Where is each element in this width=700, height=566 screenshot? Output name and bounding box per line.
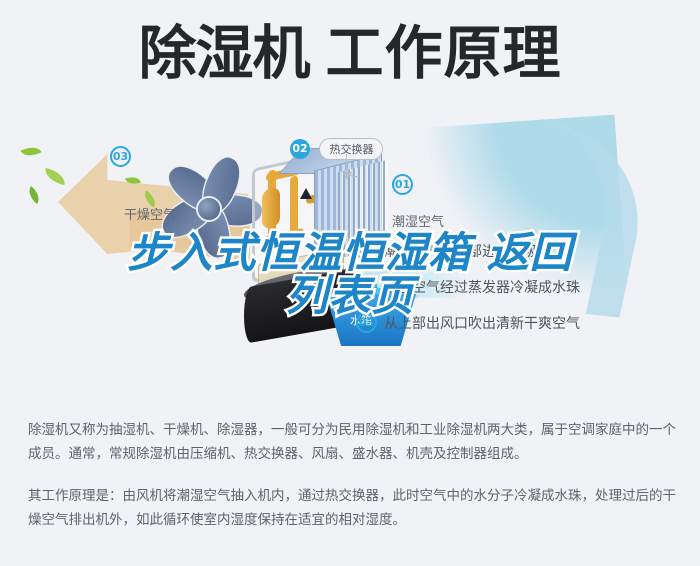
- leaf-icon: [25, 186, 44, 204]
- dehumidifier-diagram: 水箱 02 热交换器 01 潮湿空气 03 干燥空气 01 潮湿空气从下部进风口…: [0, 118, 700, 398]
- legend-number-badge: 01: [356, 240, 377, 261]
- legend-text: 潮湿空气从下部进风口吸入: [384, 241, 552, 261]
- legend-row: 01 潮湿空气从下部进风口吸入: [356, 240, 686, 261]
- article-body: 除湿机又称为抽湿机、干燥机、除湿器，一般可分为民用除湿机和工业除湿机两大类，属于…: [28, 418, 678, 550]
- legend-number-badge: 03: [356, 312, 377, 333]
- page-title-wrap: 除湿机工作原理: [0, 24, 700, 82]
- diagram-legend: 01 潮湿空气从下部进风口吸入 02 潮湿空气经过蒸发器冷凝成水珠 03 从上部…: [356, 240, 686, 348]
- legend-text: 从上部出风口吹出清新干爽空气: [384, 313, 580, 333]
- callout-heat-exchanger: 02 热交换器: [290, 138, 383, 160]
- label-number-badge: 03: [110, 146, 131, 167]
- leaf-icon: [20, 142, 41, 160]
- legend-number-badge: 02: [356, 276, 377, 297]
- label-dry-air: 03 干燥空气: [110, 146, 131, 167]
- leaf-icon: [43, 168, 67, 185]
- legend-text: 潮湿空气经过蒸发器冷凝成水珠: [384, 277, 580, 297]
- callout-leader-tip-icon: [342, 172, 352, 180]
- label-caption: 潮湿空气: [392, 211, 444, 230]
- receiver-cylinder: [262, 186, 280, 230]
- flow-arrow-up-icon: [300, 188, 312, 199]
- infographic-page: 除湿机工作原理: [0, 0, 700, 566]
- paragraph-2: 其工作原理是：由风机将潮湿空气抽入机内，通过热交换器，此时空气中的水分子冷凝成水…: [28, 484, 678, 532]
- coil-pipe: [290, 175, 298, 235]
- callout-number-badge: 02: [290, 139, 310, 159]
- title-part-2: 工作原理: [326, 19, 562, 87]
- legend-row: 03 从上部出风口吹出清新干爽空气: [356, 312, 686, 333]
- label-caption: 干燥空气: [124, 204, 214, 223]
- legend-row: 02 潮湿空气经过蒸发器冷凝成水珠: [356, 276, 686, 297]
- label-number-badge: 01: [392, 174, 413, 195]
- label-moist-air: 01 潮湿空气: [392, 174, 444, 230]
- page-title: 除湿机工作原理: [138, 24, 561, 82]
- paragraph-1: 除湿机又称为抽湿机、干燥机、除湿器，一般可分为民用除湿机和工业除湿机两大类，属于…: [28, 418, 678, 466]
- title-part-1: 除湿机: [138, 19, 309, 87]
